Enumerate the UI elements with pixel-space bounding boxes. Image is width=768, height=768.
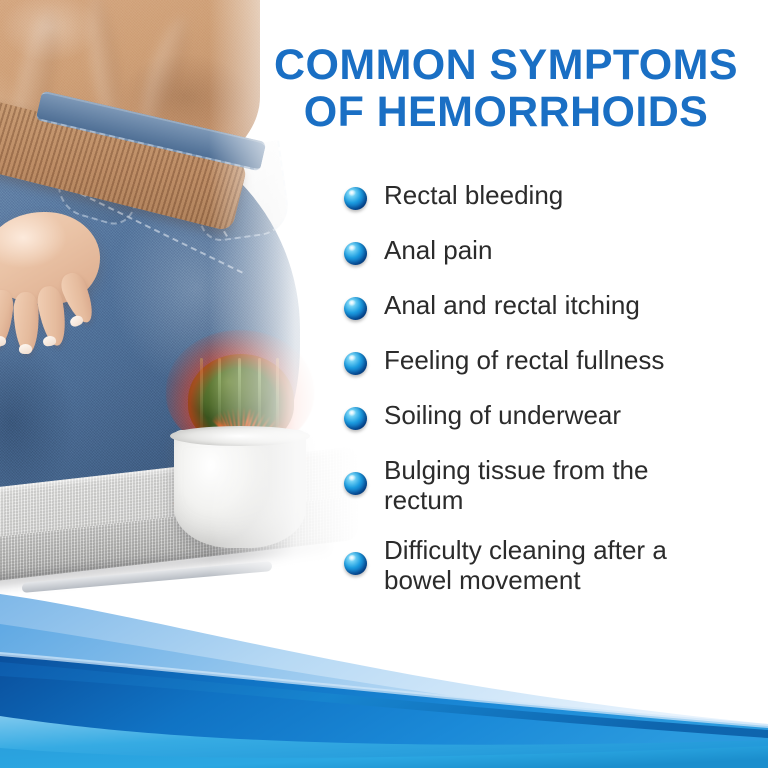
red-cactus-in-white-pot: [160, 330, 320, 550]
list-item: Anal and rectal itching: [344, 290, 754, 320]
symptom-label: Soiling of underwear: [384, 400, 621, 430]
symptom-list: Rectal bleedingAnal painAnal and rectal …: [344, 180, 754, 615]
blue-sphere-bullet-icon: [344, 352, 367, 375]
blue-sphere-bullet-icon: [344, 552, 367, 575]
blue-sphere-bullet-icon: [344, 407, 367, 430]
list-item: Bulging tissue from the rectum: [344, 455, 754, 515]
list-item: Difficulty cleaning after a bowel moveme…: [344, 535, 754, 595]
blue-sphere-bullet-icon: [344, 187, 367, 210]
list-item: Anal pain: [344, 235, 754, 265]
blue-sphere-bullet-icon: [344, 297, 367, 320]
white-ceramic-pot: [174, 430, 306, 548]
fingernail: [19, 344, 32, 354]
page-title: COMMON SYMPTOMS OF HEMORRHOIDS: [258, 42, 754, 136]
pot-rim: [170, 426, 310, 446]
list-item: Soiling of underwear: [344, 400, 754, 430]
infographic-poster: COMMON SYMPTOMS OF HEMORRHOIDS Rectal bl…: [0, 0, 768, 768]
symptom-label: Anal and rectal itching: [384, 290, 640, 320]
hand-on-hip: [0, 212, 142, 342]
symptom-label: Difficulty cleaning after a bowel moveme…: [384, 535, 714, 595]
symptom-label: Bulging tissue from the rectum: [384, 455, 714, 515]
symptom-label: Rectal bleeding: [384, 180, 563, 210]
symptom-label: Feeling of rectal fullness: [384, 345, 664, 375]
blue-sphere-bullet-icon: [344, 242, 367, 265]
list-item: Feeling of rectal fullness: [344, 345, 754, 375]
blue-sphere-bullet-icon: [344, 472, 367, 495]
title-line-2: OF HEMORRHOIDS: [258, 89, 754, 136]
symptom-label: Anal pain: [384, 235, 492, 265]
list-item: Rectal bleeding: [344, 180, 754, 210]
title-line-1: COMMON SYMPTOMS: [258, 42, 754, 89]
